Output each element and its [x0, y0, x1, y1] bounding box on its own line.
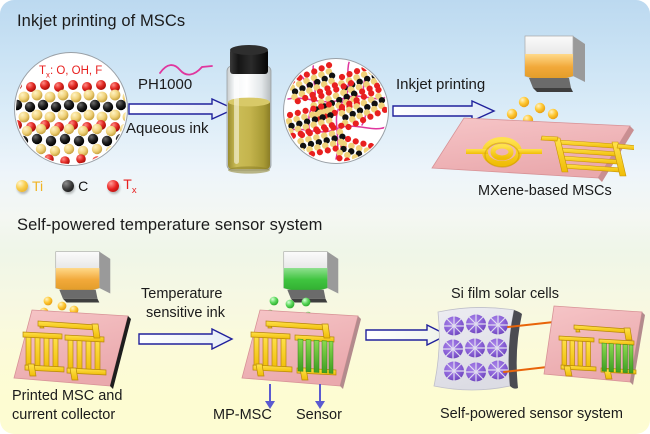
graphical-abstract-figure: Inkjet printing of MSCs — [0, 0, 650, 434]
self-powered-sensor-caption: Self-powered sensor system — [440, 406, 623, 422]
solar-and-sensor-icon — [428, 300, 650, 400]
c-sphere-icon — [62, 180, 74, 192]
inkjet-printhead-top — [519, 32, 591, 103]
mp-msc-caption: MP-MSC — [213, 407, 272, 423]
mp-msc-sensor-substrate-icon — [238, 306, 364, 398]
printed-msc-substrate-icon — [10, 306, 132, 398]
mp-msc-sensor-device — [238, 306, 364, 403]
tx-sphere-icon — [107, 180, 119, 192]
bottom-panel-title: Self-powered temperature sensor system — [17, 216, 323, 235]
temperature-ink-label-line1: Temperature — [141, 286, 222, 302]
inkjet-printing-label: Inkjet printing — [396, 76, 485, 93]
legend-item-tx: Tx — [107, 176, 136, 196]
mxene-msc-caption: MXene-based MSCs — [478, 183, 612, 199]
aqueous-ink-arrow — [128, 98, 236, 120]
termination-annotation: Tx: O, OH, F — [39, 65, 102, 79]
printed-msc-caption-line2: current collector — [12, 407, 115, 423]
aqueous-ink-label: Aqueous ink — [126, 120, 209, 137]
mxene-structure-circle: Tx: O, OH, F — [14, 52, 128, 166]
legend-label-tx: Tx — [123, 176, 136, 196]
msc-substrate-icon — [428, 112, 634, 186]
termination-annotation-text: Tx: O, OH, F — [39, 65, 102, 77]
top-panel-title: Inkjet printing of MSCs — [17, 12, 185, 31]
mxene-msc-device — [428, 112, 634, 191]
mxene-flakes-dispersion-icon — [284, 59, 388, 163]
legend-label-ti: Ti — [32, 178, 43, 194]
ph1000-label: PH1000 — [138, 76, 192, 93]
vial-icon — [221, 42, 277, 174]
printed-msc-caption-line1: Printed MSC and — [12, 388, 122, 404]
solar-cell-module — [428, 300, 650, 405]
printhead-icon — [519, 32, 591, 98]
legend-item-ti: Ti — [16, 178, 43, 194]
ink-vial — [221, 42, 277, 174]
dispersion-circle — [283, 58, 389, 164]
atom-legend: Ti C Tx — [16, 176, 137, 196]
ti-sphere-icon — [16, 180, 28, 192]
legend-item-c: C — [62, 178, 88, 194]
temperature-sensitive-ink-arrow — [138, 328, 234, 350]
legend-label-c: C — [78, 178, 88, 194]
sensor-caption: Sensor — [296, 407, 342, 423]
temperature-ink-label-line2: sensitive ink — [146, 305, 225, 321]
